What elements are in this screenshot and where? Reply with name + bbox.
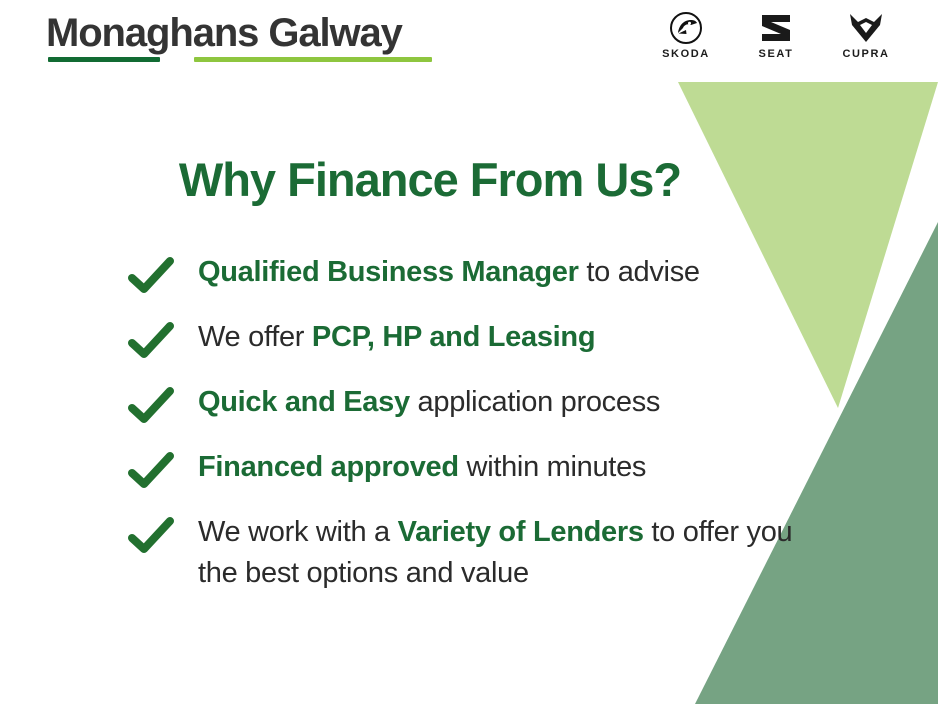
list-item-plain: to advise	[579, 256, 700, 288]
oem-logo-cupra: CUPRA	[830, 10, 902, 60]
check-icon	[128, 319, 174, 363]
skoda-winged-arrow-icon	[669, 10, 703, 46]
list-item-text: We offer PCP, HP and Leasing	[198, 317, 595, 358]
brand-logo: Monaghans Galway	[46, 13, 476, 64]
list-item-plain: We work with a	[198, 516, 398, 548]
brand-underline-rules	[46, 56, 476, 64]
check-icon	[128, 449, 174, 493]
list-item-plain: within minutes	[459, 451, 646, 483]
brand-rule-light	[194, 57, 432, 62]
check-icon	[128, 254, 174, 298]
benefits-list: Qualified Business Manager to advise We …	[128, 252, 828, 594]
oem-logo-seat: SEAT	[740, 10, 812, 60]
oem-logo-skoda: SKODA	[650, 10, 722, 60]
check-icon	[128, 514, 174, 558]
cupra-tribal-icon	[847, 10, 885, 46]
list-item: Financed approved within minutes	[128, 447, 828, 493]
seat-s-icon	[758, 10, 794, 46]
list-item-emphasis: PCP, HP and Leasing	[312, 321, 595, 353]
list-item-text: Financed approved within minutes	[198, 447, 646, 488]
page-title: Why Finance From Us?	[0, 152, 860, 207]
list-item-emphasis: Quick and Easy	[198, 386, 410, 418]
list-item: We offer PCP, HP and Leasing	[128, 317, 828, 363]
list-item: We work with a Variety of Lenders to off…	[128, 512, 828, 594]
list-item-plain: We offer	[198, 321, 312, 353]
list-item: Qualified Business Manager to advise	[128, 252, 828, 298]
list-item-text: Quick and Easy application process	[198, 382, 660, 423]
oem-label-cupra: CUPRA	[842, 48, 889, 60]
list-item-emphasis: Qualified Business Manager	[198, 256, 579, 288]
brand-rule-dark	[48, 57, 160, 62]
list-item-text: We work with a Variety of Lenders to off…	[198, 512, 828, 594]
brand-wordmark: Monaghans Galway	[46, 13, 476, 53]
list-item-emphasis: Financed approved	[198, 451, 459, 483]
oem-label-seat: SEAT	[759, 48, 794, 60]
oem-label-skoda: SKODA	[662, 48, 710, 60]
list-item-emphasis: Variety of Lenders	[398, 516, 644, 548]
list-item-plain: application process	[410, 386, 660, 418]
oem-logo-group: SKODA SEAT CUPRA	[650, 10, 902, 60]
check-icon	[128, 384, 174, 428]
header: Monaghans Galway SKODA	[0, 0, 938, 82]
list-item: Quick and Easy application process	[128, 382, 828, 428]
slide-canvas: Monaghans Galway SKODA	[0, 0, 938, 704]
list-item-text: Qualified Business Manager to advise	[198, 252, 700, 293]
